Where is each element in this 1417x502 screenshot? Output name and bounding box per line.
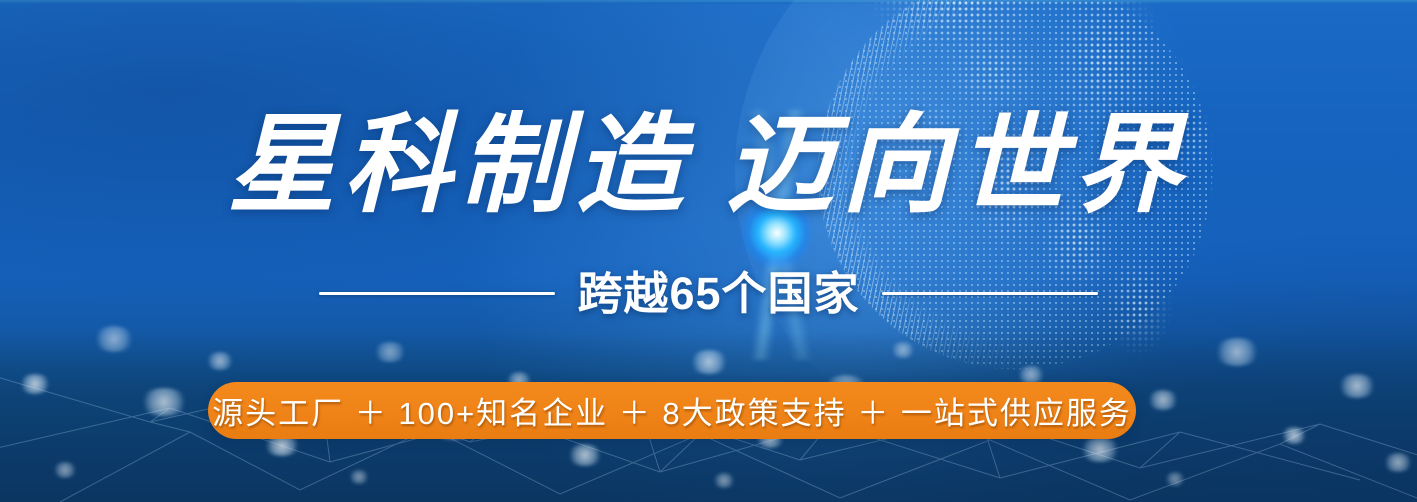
feature-pill-banner[interactable]: 源头工厂 ＋ 100+知名企业 ＋ 8大政策支持 ＋ 一站式供应服务 — [208, 382, 1136, 439]
subtitle-rule-left — [319, 292, 555, 295]
feature-pill-text: 源头工厂 ＋ 100+知名企业 ＋ 8大政策支持 ＋ 一站式供应服务 — [212, 388, 1132, 433]
headline: 星科制造迈向世界 — [0, 104, 1417, 226]
subtitle-text: 跨越65个国家 — [577, 271, 859, 316]
banner-content: 星科制造迈向世界 跨越65个国家 源头工厂 ＋ 100+知名企业 ＋ 8大政策支… — [0, 0, 1417, 502]
subtitle-row: 跨越65个国家 — [0, 262, 1417, 324]
headline-part-one: 星科制造 — [227, 102, 691, 228]
promotional-banner: 星科制造迈向世界 跨越65个国家 源头工厂 ＋ 100+知名企业 ＋ 8大政策支… — [0, 0, 1417, 502]
headline-part-two: 迈向世界 — [726, 102, 1190, 228]
subtitle-rule-right — [882, 292, 1098, 295]
